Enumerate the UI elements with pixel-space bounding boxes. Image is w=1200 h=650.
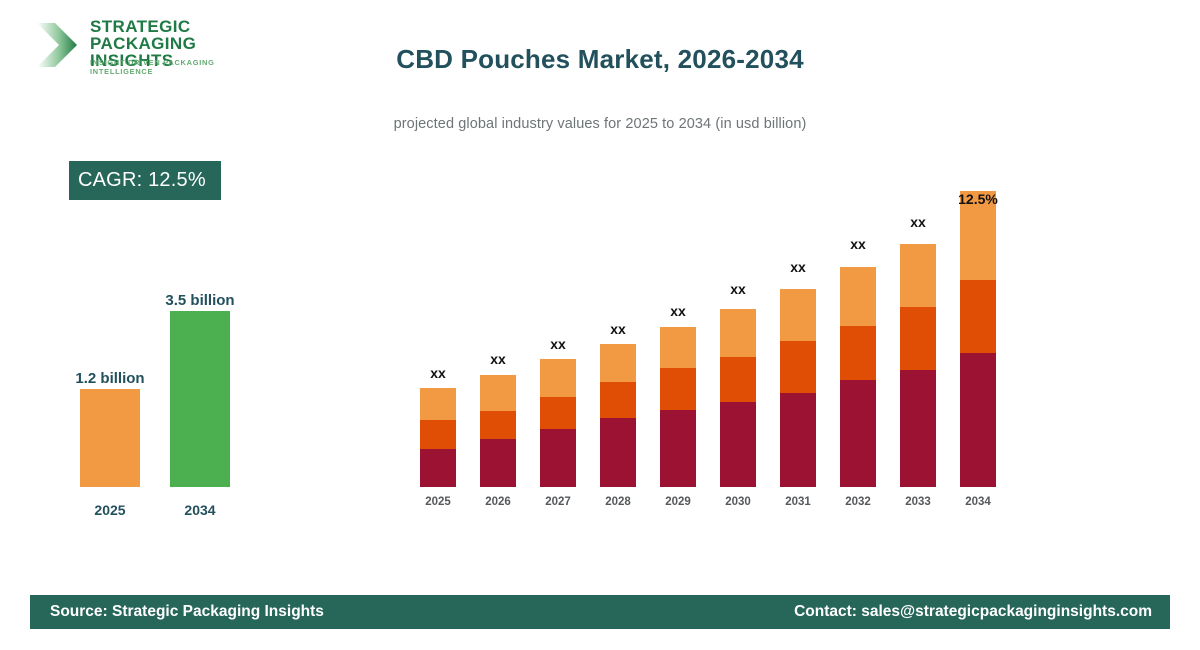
market-size-comparison-chart: 1.2 billion 2025 3.5 billion 2034 [0, 0, 300, 600]
stacked-bar-2031: xx 2031 [780, 289, 816, 487]
stack-segment-middle [840, 326, 876, 380]
bar-category-label: 2034 [150, 502, 250, 518]
stack-segment-bottom [480, 439, 516, 487]
stack-segment-top [660, 327, 696, 368]
stack-segment-bottom [840, 380, 876, 487]
stack-segment-top [840, 267, 876, 326]
infographic-canvas: STRATEGIC PACKAGING INSIGHTS INSIGHT-DRI… [0, 0, 1200, 650]
footer-bar: Source: Strategic Packaging Insights Con… [30, 595, 1170, 629]
bar-category-label: 2034 [938, 496, 1018, 508]
bar-top-label: 12.5% [928, 191, 1028, 207]
stack-segment-top [780, 289, 816, 341]
stacked-bar-2032: xx 2032 [840, 267, 876, 487]
stacked-bar-2027: xx 2027 [540, 359, 576, 487]
stack-segment-top [900, 244, 936, 307]
stacked-bar-2034: 12.5% 2034 [960, 191, 996, 487]
stack-segment-top [420, 388, 456, 420]
stack-segment-bottom [780, 393, 816, 487]
stack-segment-bottom [660, 410, 696, 487]
projected-segment-stacked-chart: xx 2025 xx 2026 xx 2027 xx 2028 [400, 0, 1040, 600]
bar-top-label: xx [748, 259, 848, 275]
bar-value-label: 1.2 billion [40, 370, 180, 387]
stack-segment-bottom [600, 418, 636, 487]
bar-top-label: xx [388, 365, 488, 381]
stacked-bar-2026: xx 2026 [480, 375, 516, 487]
stack-segment-top [480, 375, 516, 411]
bar-top-label: xx [688, 281, 788, 297]
footer-source: Source: Strategic Packaging Insights [50, 595, 324, 629]
stacked-bar-2033: xx 2033 [900, 244, 936, 487]
stack-segment-middle [600, 382, 636, 418]
bar-top-label: xx [448, 351, 548, 367]
bar-fill [170, 311, 230, 487]
bar-category-label: 2025 [60, 502, 160, 518]
stack-segment-middle [660, 368, 696, 410]
stack-segment-middle [540, 397, 576, 429]
bar-value-label: 3.5 billion [130, 292, 270, 309]
stacked-bar-2030: xx 2030 [720, 309, 756, 487]
bar-top-label: xx [568, 321, 668, 337]
stack-segment-bottom [420, 449, 456, 487]
footer-contact[interactable]: Contact: sales@strategicpackaginginsight… [794, 595, 1152, 629]
stack-segment-bottom [720, 402, 756, 487]
stack-segment-middle [780, 341, 816, 393]
stack-segment-middle [900, 307, 936, 370]
stack-segment-top [720, 309, 756, 357]
bar-top-label: xx [868, 214, 968, 230]
stacked-bar-2025: xx 2025 [420, 388, 456, 487]
stack-segment-bottom [540, 429, 576, 487]
stacked-bar-2028: xx 2028 [600, 344, 636, 487]
stack-segment-bottom [900, 370, 936, 487]
stack-segment-middle [420, 420, 456, 449]
bar-top-label: xx [508, 336, 608, 352]
stack-segment-top [600, 344, 636, 382]
stack-segment-middle [960, 280, 996, 353]
stack-segment-middle [480, 411, 516, 439]
bar-top-label: xx [628, 303, 728, 319]
stack-segment-bottom [960, 353, 996, 487]
stack-segment-top [540, 359, 576, 397]
bar-top-label: xx [808, 236, 908, 252]
stacked-bar-2029: xx 2029 [660, 327, 696, 487]
bar-fill [80, 389, 140, 487]
stack-segment-middle [720, 357, 756, 402]
